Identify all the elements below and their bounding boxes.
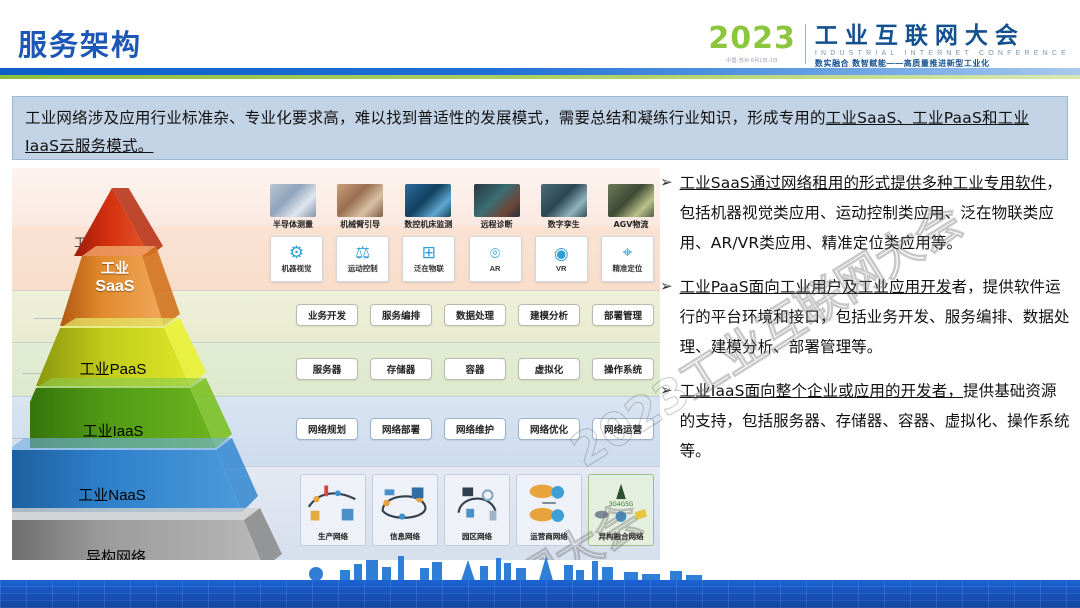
title-rule-green <box>0 75 1080 79</box>
netcard-campus[interactable]: 园区网络 <box>444 474 510 546</box>
pyramid-graphic: 工业 SaaS 工业PaaS 工业IaaS <box>30 178 300 553</box>
robot-arm-image <box>337 184 383 217</box>
logo-year-subtitle: 中国·苏州 8月1日-1日 <box>708 57 796 64</box>
logo-divider <box>805 24 806 64</box>
bullet-underlined: 工业SaaS通过网络租用的形式提供多种工业专用软件 <box>680 174 1047 192</box>
iot-icon: ⊞ <box>422 244 436 261</box>
card-caption: 机器视觉 <box>282 263 312 274</box>
thumb-caption: AGV物流 <box>608 219 654 230</box>
paas-pill-row: 业务开发 服务编排 数据处理 建模分析 部署管理 <box>296 304 654 326</box>
remote-diagnosis-image <box>474 184 520 217</box>
motion-control-icon: ⚖ <box>355 244 370 261</box>
intro-text-box: 工业网络涉及应用行业标准杂、专业化要求高，难以找到普适性的发展模式，需要总结和凝… <box>12 96 1068 160</box>
page-title: 服务架构 <box>18 22 142 64</box>
bullet-underlined: 工业IaaS面向整个企业或应用的开发者， <box>680 382 963 400</box>
pill-network-deployment[interactable]: 网络部署 <box>370 418 432 440</box>
production-network-art <box>301 477 365 529</box>
card-caption: 运动控制 <box>348 263 378 274</box>
thumb-cnc-monitor[interactable]: 数控机床监测 <box>404 184 452 230</box>
bullet-item-saas: ➢ 工业SaaS通过网络租用的形式提供多种工业专用软件，包括机器视觉类应用、运动… <box>660 168 1072 258</box>
bullet-underlined: 工业PaaS面向工业用户及工业应用开发 <box>680 278 952 296</box>
pill-storage[interactable]: 存储器 <box>370 358 432 380</box>
thumb-agv-logistics[interactable]: AGV物流 <box>608 184 654 230</box>
intro-line-1: 工业网络涉及应用行业标准杂、专业化要求高，难以找到普适性的发展模式，需要总结和凝… <box>25 109 826 127</box>
pill-virtualization[interactable]: 虚拟化 <box>518 358 580 380</box>
bullet-list: ➢ 工业SaaS通过网络租用的形式提供多种工业专用软件，包括机器视觉类应用、运动… <box>660 168 1072 560</box>
pill-service-orch[interactable]: 服务编排 <box>370 304 432 326</box>
bullet-marker: ➢ <box>660 376 673 466</box>
card-ubiquitous-iot[interactable]: ⊞ 泛在物联 <box>402 236 455 282</box>
logo-english-title: INDUSTRIAL INTERNET CONFERENCE <box>815 50 1070 57</box>
netcard-operator[interactable]: 运营商网络 <box>516 474 582 546</box>
pill-server[interactable]: 服务器 <box>296 358 358 380</box>
page-header: 服务架构 2023 中国·苏州 8月1日-1日 工业互联网大会 INDUSTRI… <box>0 0 1080 92</box>
ar-headset-icon: ⌾ <box>490 245 500 262</box>
pill-data-processing[interactable]: 数据处理 <box>444 304 506 326</box>
iaas-pill-row: 服务器 存储器 容器 虚拟化 操作系统 <box>296 358 654 380</box>
pill-container[interactable]: 容器 <box>444 358 506 380</box>
digital-twin-image <box>541 184 587 217</box>
netcard-caption: 生产网络 <box>318 531 348 542</box>
intro-paragraph: 工业网络涉及应用行业标准杂、专业化要求高，难以找到普适性的发展模式，需要总结和凝… <box>25 104 1055 160</box>
netcard-caption: 运营商网络 <box>530 531 568 542</box>
thumb-caption: 数控机床监测 <box>404 219 452 230</box>
thumb-digital-twin[interactable]: 数字孪生 <box>541 184 587 230</box>
vr-headset-icon: ◉ <box>554 245 569 262</box>
bullet-marker: ➢ <box>660 272 673 362</box>
logo-slogan: 数实融合 数智赋能——高质量推进新型工业化 <box>815 58 1070 69</box>
campus-network-art <box>445 477 509 529</box>
card-caption: 精准定位 <box>612 263 642 274</box>
svg-text:3G4G5G: 3G4G5G <box>609 502 634 508</box>
heterogeneous-network-art: 3G4G5G <box>589 477 653 529</box>
card-precise-positioning[interactable]: ⌖ 精准定位 <box>601 236 654 282</box>
pill-network-maintenance[interactable]: 网络维护 <box>444 418 506 440</box>
pill-network-operation[interactable]: 网络运营 <box>592 418 654 440</box>
card-caption: AR <box>490 264 501 273</box>
netcard-information[interactable]: 信息网络 <box>372 474 438 546</box>
bullet-item-iaas: ➢ 工业IaaS面向整个企业或应用的开发者，提供基础资源的支持，包括服务器、存储… <box>660 376 1072 466</box>
netcard-caption: 园区网络 <box>462 531 492 542</box>
pyramid-label-saas-line1: 工业 <box>60 258 170 278</box>
footer-grid-pattern <box>0 580 1080 608</box>
thumb-robot-arm[interactable]: 机械臂引导 <box>337 184 383 230</box>
operator-network-art <box>517 477 581 529</box>
robot-arm-icon: ⚙ <box>289 244 304 261</box>
thumb-remote-diagnosis[interactable]: 远程诊断 <box>474 184 520 230</box>
conference-logo: 2023 中国·苏州 8月1日-1日 工业互联网大会 INDUSTRIAL IN… <box>708 24 1070 70</box>
netcard-caption: 异构融合网络 <box>599 531 644 542</box>
pill-business-dev[interactable]: 业务开发 <box>296 304 358 326</box>
netcard-heterogeneous-fusion[interactable]: 3G4G5G 异构融合网络 <box>588 474 654 546</box>
bullet-text: 工业PaaS面向工业用户及工业应用开发者，提供软件运行的平台环境和接口，包括业务… <box>680 272 1072 362</box>
thumb-semiconductor[interactable]: 半导体测量 <box>270 184 316 230</box>
thumb-caption: 数字孪生 <box>541 219 587 230</box>
logo-year: 2023 <box>708 24 796 54</box>
pill-deploy-management[interactable]: 部署管理 <box>592 304 654 326</box>
positioning-icon: ⌖ <box>623 244 633 261</box>
agv-image <box>608 184 654 217</box>
thumb-caption: 远程诊断 <box>474 219 520 230</box>
information-network-art <box>373 477 437 529</box>
card-motion-control[interactable]: ⚖ 运动控制 <box>336 236 389 282</box>
page-footer <box>0 556 1080 608</box>
bullet-text: 工业IaaS面向整个企业或应用的开发者，提供基础资源的支持，包括服务器、存储器、… <box>680 376 1072 466</box>
pill-operating-system[interactable]: 操作系统 <box>592 358 654 380</box>
naas-pill-row: 网络规划 网络部署 网络维护 网络优化 网络运营 <box>296 418 654 440</box>
thumb-caption: 半导体测量 <box>270 219 316 230</box>
semiconductor-image <box>270 184 316 217</box>
thumb-caption: 机械臂引导 <box>337 219 383 230</box>
pill-network-optimization[interactable]: 网络优化 <box>518 418 580 440</box>
pill-network-planning[interactable]: 网络规划 <box>296 418 358 440</box>
card-caption: 泛在物联 <box>414 263 444 274</box>
netcard-caption: 信息网络 <box>390 531 420 542</box>
network-card-row: 生产网络 信息网络 园区网络 <box>300 474 654 546</box>
cnc-image <box>405 184 451 217</box>
logo-text-block: 工业互联网大会 INDUSTRIAL INTERNET CONFERENCE 数… <box>815 24 1070 69</box>
card-vr[interactable]: ◉ VR <box>535 236 588 282</box>
bullet-item-paas: ➢ 工业PaaS面向工业用户及工业应用开发者，提供软件运行的平台环境和接口，包括… <box>660 272 1072 362</box>
pyramid-label-saas-line2: SaaS <box>60 278 170 296</box>
pill-modeling-analysis[interactable]: 建模分析 <box>518 304 580 326</box>
netcard-production[interactable]: 生产网络 <box>300 474 366 546</box>
logo-year-block: 2023 中国·苏州 8月1日-1日 <box>708 24 805 64</box>
bullet-text: 工业SaaS通过网络租用的形式提供多种工业专用软件，包括机器视觉类应用、运动控制… <box>680 168 1072 258</box>
card-caption: VR <box>556 264 566 273</box>
architecture-diagram: 工业应用层 统一平台层 智慧适配层 网络资源层 <box>12 168 660 560</box>
application-thumbnail-row: 半导体测量 机械臂引导 数控机床监测 远程诊断 数字孪生 AGV物流 <box>270 184 654 230</box>
card-machine-vision[interactable]: ⚙ 机器视觉 <box>270 236 323 282</box>
application-icon-row: ⚙ 机器视觉 ⚖ 运动控制 ⊞ 泛在物联 ⌾ AR ◉ VR ⌖ 精准定位 <box>270 236 654 282</box>
pyramid-label-saas: 工业 SaaS <box>60 258 170 296</box>
logo-main-title: 工业互联网大会 <box>815 24 1070 49</box>
card-ar[interactable]: ⌾ AR <box>469 236 522 282</box>
bullet-marker: ➢ <box>660 168 673 258</box>
